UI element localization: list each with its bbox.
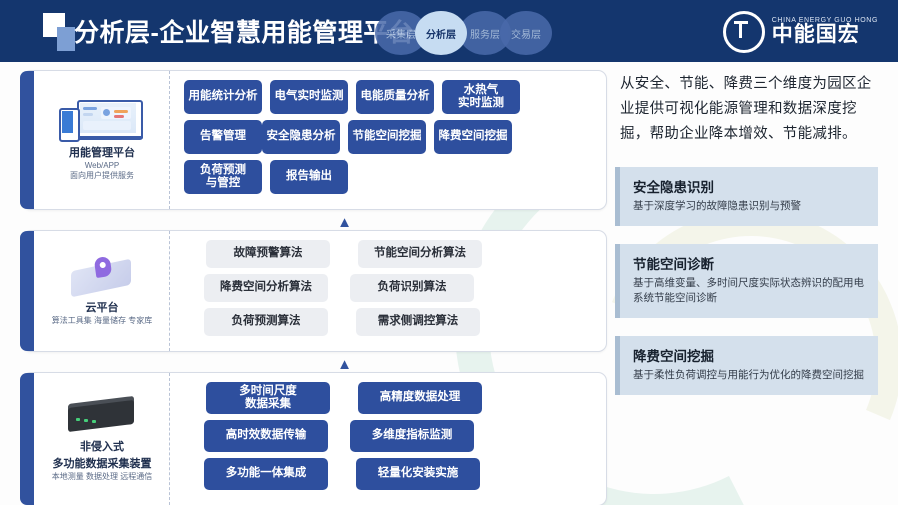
slide-canvas: 分析层-企业智慧用能管理平台 采集层 服务层 交易层 分析层 CHINA ENE… [0, 0, 898, 505]
device-feature-pill[interactable]: 高时效数据传输 [204, 420, 328, 452]
layer-stage-trade[interactable]: 交易层 [500, 11, 552, 55]
feature-pill[interactable]: 电能质量分析 [356, 80, 434, 114]
feature-pill[interactable]: 电气实时监测 [270, 80, 348, 114]
info-card-title: 节能空间诊断 [633, 253, 867, 273]
info-card-title: 安全隐患识别 [633, 176, 867, 196]
feature-pill[interactable]: 安全隐患分析 [262, 120, 340, 154]
section-device-identity: 非侵入式 多功能数据采集装置 本地测量 数据处理 远程通信 [35, 373, 170, 505]
intro-paragraph: 从安全、节能、降费三个维度为园区企业提供可视化能源管理和数据深度挖掘，帮助企业降… [620, 72, 878, 147]
feature-pill[interactable]: 降费空间挖掘 [434, 120, 512, 154]
architecture-stack: 用能管理平台 Web/APP 面向用户提供服务 用能统计分析 电气实时监测 电能… [22, 70, 607, 505]
info-card-desc: 基于深度学习的故障隐患识别与预警 [633, 199, 867, 215]
info-card-desc: 基于高维变量、多时间尺度实际状态辨识的配用电系统节能空间诊断 [633, 276, 867, 308]
device-feature-pill[interactable]: 高精度数据处理 [358, 382, 482, 414]
flow-arrow-up: ▲ [22, 214, 607, 228]
section-cloud-caption: 云平台 [86, 302, 119, 316]
feature-pill[interactable]: 水热气 实时监测 [442, 80, 520, 114]
cloud-platform-icon [63, 255, 141, 299]
section-accent-bar [20, 231, 34, 351]
algorithm-pill[interactable]: 需求侧调控算法 [356, 308, 480, 336]
feature-pill[interactable]: 用能统计分析 [184, 80, 262, 114]
section-device-sub2: 本地测量 数据处理 远程通信 [52, 472, 152, 482]
brand-name-cn: 中能国宏 [772, 24, 878, 46]
section-platform-features: 用能统计分析 电气实时监测 电能质量分析 水热气 实时监测 告警管理 安全隐患分… [170, 71, 606, 209]
info-card-cost-reduction[interactable]: 降费空间挖掘 基于柔性负荷调控与用能行为优化的降费空间挖掘 [620, 336, 878, 395]
device-feature-pill[interactable]: 多维度指标监测 [350, 420, 474, 452]
data-collector-icon [62, 396, 142, 438]
section-accent-bar [20, 373, 34, 505]
algorithm-pill[interactable]: 负荷识别算法 [350, 274, 474, 302]
layer-stage-analysis[interactable]: 分析层 [415, 11, 467, 55]
info-card-energy-saving[interactable]: 节能空间诊断 基于高维变量、多时间尺度实际状态辨识的配用电系统节能空间诊断 [620, 244, 878, 319]
device-feature-pill[interactable]: 多时间尺度 数据采集 [206, 382, 330, 414]
section-platform-caption: 用能管理平台 [69, 147, 135, 161]
info-card-safety[interactable]: 安全隐患识别 基于深度学习的故障隐患识别与预警 [620, 167, 878, 226]
section-platform-identity: 用能管理平台 Web/APP 面向用户提供服务 [35, 71, 170, 209]
feature-pill[interactable]: 报告输出 [270, 160, 348, 194]
feature-pill[interactable]: 节能空间挖掘 [348, 120, 426, 154]
section-accent-bar [20, 71, 34, 209]
info-card-title: 降费空间挖掘 [633, 345, 867, 365]
section-cloud-sub1: 算法工具集 海量储存 专家库 [52, 316, 152, 326]
section-cloud-algorithms: 故障预警算法 节能空间分析算法 降费空间分析算法 负荷识别算法 负荷预测算法 需… [170, 231, 606, 351]
feature-pill[interactable]: 负荷预测 与管控 [184, 160, 262, 194]
summary-panel: 从安全、节能、降费三个维度为园区企业提供可视化能源管理和数据深度挖掘，帮助企业降… [620, 72, 878, 413]
page-title: 分析层-企业智慧用能管理平台 [74, 13, 414, 49]
algorithm-pill[interactable]: 负荷预测算法 [204, 308, 328, 336]
section-device: 非侵入式 多功能数据采集装置 本地测量 数据处理 远程通信 多时间尺度 数据采集… [22, 372, 607, 505]
section-platform-sub1: Web/APP [85, 161, 120, 171]
laptop-phone-icon [59, 98, 145, 144]
section-device-features: 多时间尺度 数据采集 高精度数据处理 高时效数据传输 多维度指标监测 多功能一体… [170, 373, 606, 505]
info-card-desc: 基于柔性负荷调控与用能行为优化的降费空间挖掘 [633, 368, 867, 384]
algorithm-pill[interactable]: 故障预警算法 [206, 240, 330, 268]
device-feature-pill[interactable]: 轻量化安装实施 [356, 458, 480, 490]
section-device-sub1: 多功能数据采集装置 [53, 458, 152, 472]
section-cloud: 云平台 算法工具集 海量储存 专家库 故障预警算法 节能空间分析算法 降费空间分… [22, 230, 607, 352]
section-platform: 用能管理平台 Web/APP 面向用户提供服务 用能统计分析 电气实时监测 电能… [22, 70, 607, 210]
section-device-caption: 非侵入式 [80, 441, 124, 455]
section-cloud-identity: 云平台 算法工具集 海量储存 专家库 [35, 231, 170, 351]
page-header: 分析层-企业智慧用能管理平台 采集层 服务层 交易层 分析层 CHINA ENE… [0, 0, 898, 62]
brand-logo-icon [723, 11, 765, 53]
device-feature-pill[interactable]: 多功能一体集成 [204, 458, 328, 490]
flow-arrow-up: ▲ [22, 356, 607, 370]
feature-pill[interactable]: 告警管理 [184, 120, 262, 154]
algorithm-pill[interactable]: 节能空间分析算法 [358, 240, 482, 268]
algorithm-pill[interactable]: 降费空间分析算法 [204, 274, 328, 302]
section-platform-sub2: 面向用户提供服务 [70, 171, 134, 181]
brand-logo: CHINA ENERGY GUO HONG 中能国宏 [723, 12, 878, 52]
